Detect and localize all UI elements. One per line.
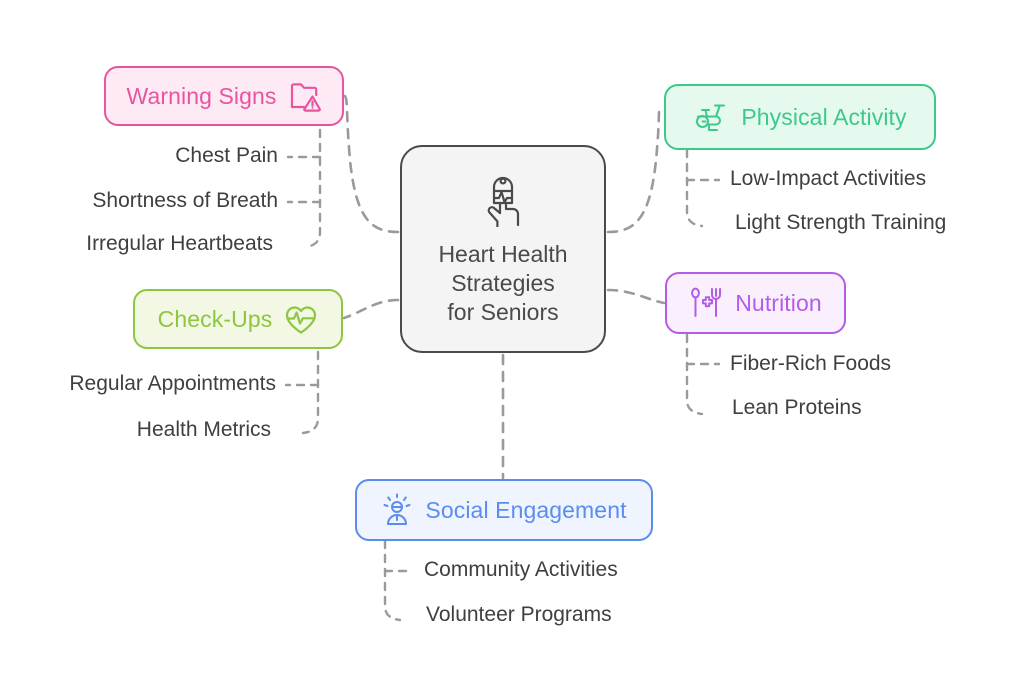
central-line-2: Strategies: [438, 269, 567, 298]
branch-label-check-ups: Check-Ups: [158, 306, 273, 333]
leaf-lean-proteins: Lean Proteins: [732, 396, 862, 420]
hand-holding-ecg-monitor-icon: [478, 171, 528, 232]
branch-label-warning-signs: Warning Signs: [126, 83, 276, 110]
central-node[interactable]: Heart Health Strategies for Seniors: [400, 145, 606, 353]
folder-warning-icon: [289, 81, 322, 112]
central-line-3: for Seniors: [438, 298, 567, 327]
branch-label-social-engagement: Social Engagement: [425, 497, 626, 524]
trunk-check-ups: [303, 352, 318, 433]
leaf-chest-pain: Chest Pain: [0, 144, 278, 168]
heart-pulse-icon: [284, 304, 318, 335]
leaf-fiber-rich-foods: Fiber-Rich Foods: [730, 352, 891, 376]
leaf-health-metrics: Health Metrics: [0, 418, 271, 442]
branch-node-check-ups[interactable]: Check-Ups: [133, 289, 343, 349]
trunk-nutrition: [687, 335, 702, 414]
spoon-fork-medical-icon: [689, 286, 723, 320]
person-social-icon: [381, 493, 413, 527]
branch-label-physical-activity: Physical Activity: [741, 104, 906, 131]
mindmap-canvas: Heart Health Strategies for Seniors Warn…: [0, 0, 1024, 691]
trunk-social-engagement: [385, 541, 400, 620]
connector-center-to-check-ups: [344, 300, 398, 318]
central-line-1: Heart Health: [438, 240, 567, 269]
leaf-low-impact-activities: Low-Impact Activities: [730, 167, 926, 191]
branch-node-social-engagement[interactable]: Social Engagement: [355, 479, 653, 541]
leaf-regular-appointments: Regular Appointments: [0, 372, 276, 396]
branch-label-nutrition: Nutrition: [735, 290, 822, 317]
connector-center-to-warning-signs: [345, 96, 398, 232]
trunk-physical-activity: [687, 150, 702, 226]
leaf-volunteer-programs: Volunteer Programs: [426, 603, 612, 627]
branch-node-nutrition[interactable]: Nutrition: [665, 272, 846, 334]
connector-center-to-nutrition: [608, 290, 664, 303]
trunk-warning-signs: [305, 130, 320, 247]
connector-center-to-physical-activity: [608, 108, 660, 232]
branch-node-physical-activity[interactable]: Physical Activity: [664, 84, 936, 150]
central-node-label: Heart Health Strategies for Seniors: [438, 240, 567, 327]
branch-node-warning-signs[interactable]: Warning Signs: [104, 66, 344, 126]
leaf-irregular-heartbeats: Irregular Heartbeats: [0, 232, 273, 256]
exercise-bike-icon: [693, 101, 729, 133]
leaf-community-activities: Community Activities: [424, 558, 618, 582]
leaf-light-strength-training: Light Strength Training: [735, 211, 946, 235]
leaf-shortness-of-breath: Shortness of Breath: [0, 189, 278, 213]
